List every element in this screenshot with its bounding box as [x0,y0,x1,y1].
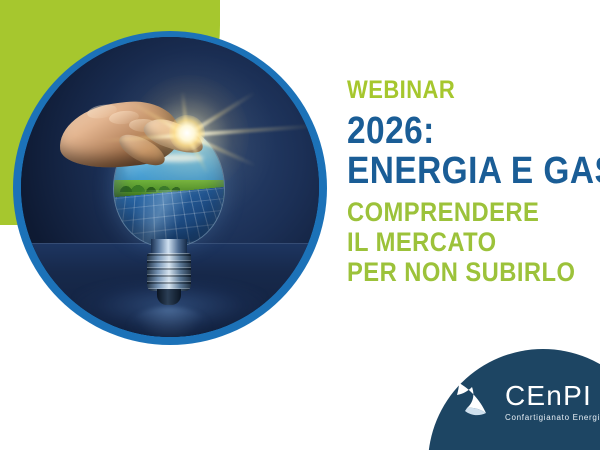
cenpi-logo: CEnPI Confartigianato Energia [456,371,600,433]
cenpi-logo-text: CEnPI Confartigianato Energia [505,382,600,422]
cenpi-logo-tagline: Confartigianato Energia [505,413,600,422]
cenpi-logo-name: CEnPI [505,382,600,410]
blue-ring-decor [13,31,327,345]
headline-kicker: WEBINAR [347,78,567,103]
headline-subline-2: IL MERCATO [347,229,567,256]
headline-block: WEBINAR 2026: ENERGIA E GAS COMPRENDERE … [347,78,597,289]
cenpi-logo-badge: CEnPI Confartigianato Energia [428,349,600,450]
headline-topic: ENERGIA E GAS [347,152,567,190]
light-flare-icon [169,115,205,151]
headline-subline-1: COMPRENDERE [347,199,567,226]
headline-year: 2026: [347,112,567,150]
bulb-contact-tip [157,289,181,305]
lightbulb-solar-panel-photo [21,37,319,337]
bulb-screw-base [147,253,191,291]
headline-subline-3: PER NON SUBIRLO [347,259,567,286]
poster-canvas: WEBINAR 2026: ENERGIA E GAS COMPRENDERE … [0,0,600,450]
cenpi-sail-mark-icon [456,379,496,425]
